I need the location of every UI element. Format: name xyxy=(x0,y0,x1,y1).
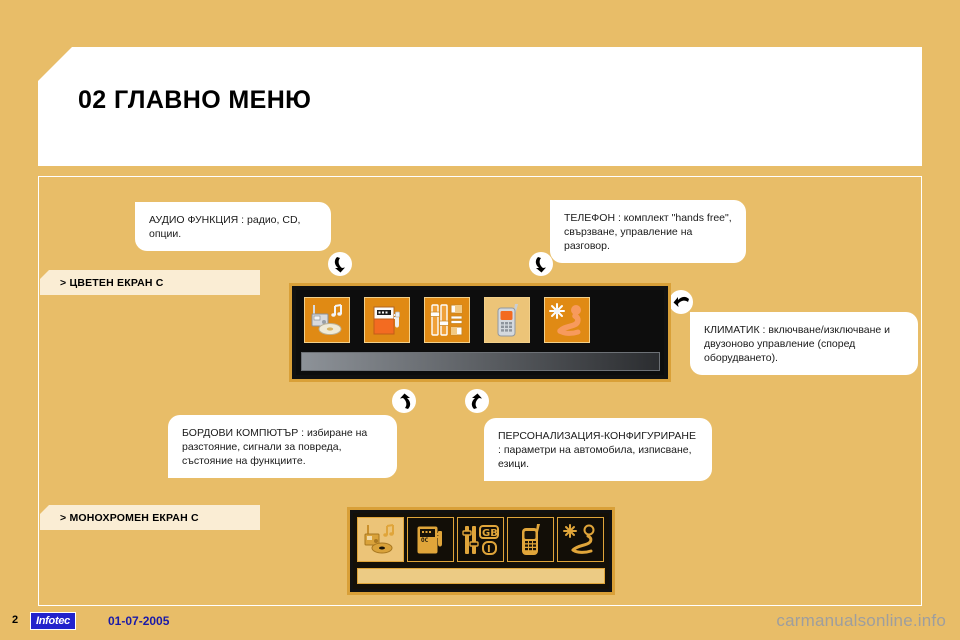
color-screen-icon-row xyxy=(304,297,590,343)
page-number: 2 xyxy=(12,614,18,626)
arrow-up-icon-personalisation xyxy=(465,389,489,413)
mono-icon-climate-control[interactable] xyxy=(557,517,604,562)
page-title: 02 ГЛАВНО МЕНЮ xyxy=(78,86,311,115)
callout-audio: АУДИО ФУНКЦИЯ : радио, CD, опции. xyxy=(135,202,331,251)
mono-trip-badge-text: OC xyxy=(421,537,429,544)
callout-trip-computer: БОРДОВИ КОМПЮТЪР : избиране на разстояни… xyxy=(168,415,397,478)
infotec-logo: Infotec xyxy=(30,612,76,630)
section-tab-mono-label: > МОНОХРОМЕН ЕКРАН С xyxy=(60,512,199,524)
mono-icon-audio-radio-cd[interactable] xyxy=(357,517,404,562)
footer-date: 01-07-2005 xyxy=(108,614,169,628)
arrow-left-icon-climate xyxy=(669,290,693,314)
mono-screen-icon-row: OC GB I xyxy=(357,517,604,562)
section-tab-color-label: > ЦВЕТЕН ЕКРАН С xyxy=(60,277,164,289)
section-tab-mono-screen[interactable]: > МОНОХРОМЕН ЕКРАН С xyxy=(40,505,260,530)
color-icon-climate-control[interactable] xyxy=(544,297,590,343)
color-icon-telephone[interactable] xyxy=(484,297,530,343)
color-icon-audio-radio-cd[interactable] xyxy=(304,297,350,343)
callout-personalisation: ПЕРСОНАЛИЗАЦИЯ-КОНФИГУРИРАНЕ : параметри… xyxy=(484,418,712,481)
callout-climate: КЛИМАТИК : включване/изключване и двузон… xyxy=(690,312,918,375)
section-tab-color-screen[interactable]: > ЦВЕТЕН ЕКРАН С xyxy=(40,270,260,295)
mono-screen-status-bar xyxy=(357,568,605,584)
mono-screen-display: OC GB I xyxy=(347,507,615,595)
color-screen-inner xyxy=(296,290,664,375)
site-watermark: carmanualsonline.info xyxy=(776,611,946,631)
page-footer: 2 Infotec 01-07-2005 carmanualsonline.in… xyxy=(0,606,960,640)
color-screen-display xyxy=(289,283,671,382)
arrow-down-icon-audio xyxy=(328,252,352,276)
arrow-up-icon-trip-computer xyxy=(392,389,416,413)
callout-telephone: ТЕЛЕФОН : комплект "hands free", свързва… xyxy=(550,200,746,263)
color-icon-personalisation-sliders[interactable] xyxy=(424,297,470,343)
arrow-down-icon-telephone xyxy=(529,252,553,276)
mono-icon-personalisation-sliders[interactable]: GB I xyxy=(457,517,504,562)
mono-perso-badge-bottom-text: I xyxy=(487,544,491,555)
color-screen-status-bar xyxy=(301,352,660,371)
mono-icon-trip-computer-fuel[interactable]: OC xyxy=(407,517,454,562)
mono-perso-badge-top-text: GB xyxy=(482,528,498,539)
color-icon-trip-computer-fuel[interactable] xyxy=(364,297,410,343)
mono-icon-telephone[interactable] xyxy=(507,517,554,562)
manual-page: 02 ГЛАВНО МЕНЮ > ЦВЕТЕН ЕКРАН С > МОНОХР… xyxy=(0,0,960,640)
mono-screen-inner: OC GB I xyxy=(353,513,609,589)
